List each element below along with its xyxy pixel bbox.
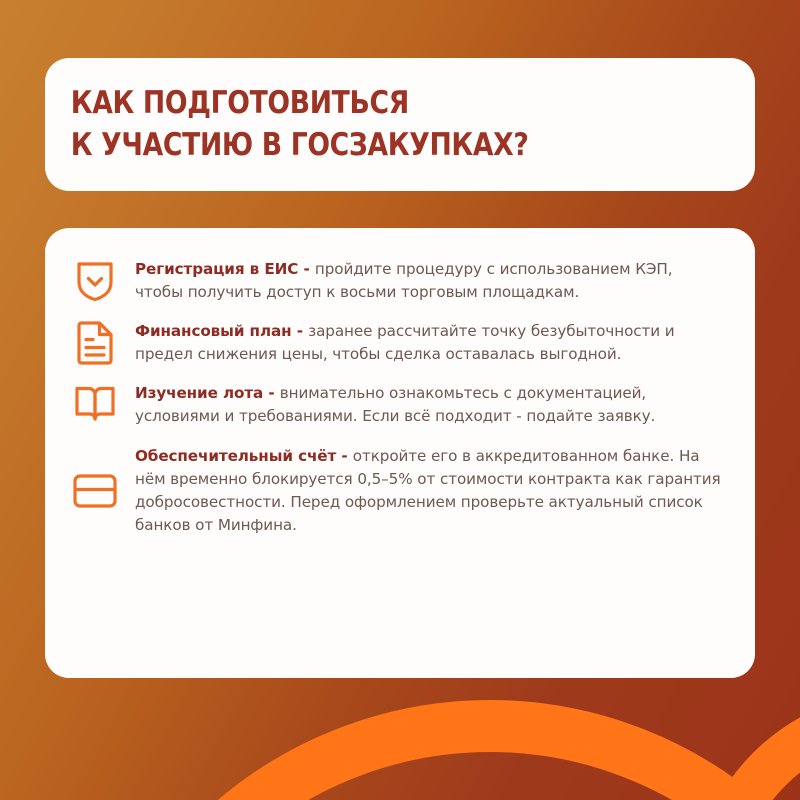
step-item-registration: Регистрация в ЕИС - пройдите процедуру с… xyxy=(72,258,725,304)
decorative-ring-small xyxy=(690,690,800,800)
step-lead: Финансовый план - xyxy=(135,322,308,340)
shield-check-icon xyxy=(72,258,118,304)
infographic-poster: КАК ПОДГОТОВИТЬСЯ К УЧАСТИЮ В ГОСЗАКУПКА… xyxy=(0,0,800,800)
step-text: Финансовый план - заранее рассчитайте то… xyxy=(135,320,725,366)
page-title: КАК ПОДГОТОВИТЬСЯ К УЧАСТИЮ В ГОСЗАКУПКА… xyxy=(45,83,528,165)
step-lead: Регистрация в ЕИС - xyxy=(135,260,315,278)
step-item-escrow-account: Обеспечительный счёт - откройте его в ак… xyxy=(72,445,725,537)
step-lead: Изучение лота - xyxy=(135,384,280,402)
credit-card-icon xyxy=(72,468,118,514)
step-text: Обеспечительный счёт - откройте его в ак… xyxy=(135,445,725,537)
step-text: Изучение лота - внимательно ознакомьтесь… xyxy=(135,382,725,428)
step-lead: Обеспечительный счёт - xyxy=(135,447,353,465)
step-item-lot-study: Изучение лота - внимательно ознакомьтесь… xyxy=(72,382,725,428)
header-card: КАК ПОДГОТОВИТЬСЯ К УЧАСТИЮ В ГОСЗАКУПКА… xyxy=(45,58,755,191)
open-book-icon xyxy=(72,382,118,428)
step-item-financial-plan: Финансовый план - заранее рассчитайте то… xyxy=(72,320,725,366)
steps-card: Регистрация в ЕИС - пройдите процедуру с… xyxy=(45,228,755,678)
document-icon xyxy=(72,320,118,366)
step-text: Регистрация в ЕИС - пройдите процедуру с… xyxy=(135,258,725,304)
decorative-ring-large xyxy=(70,700,800,800)
